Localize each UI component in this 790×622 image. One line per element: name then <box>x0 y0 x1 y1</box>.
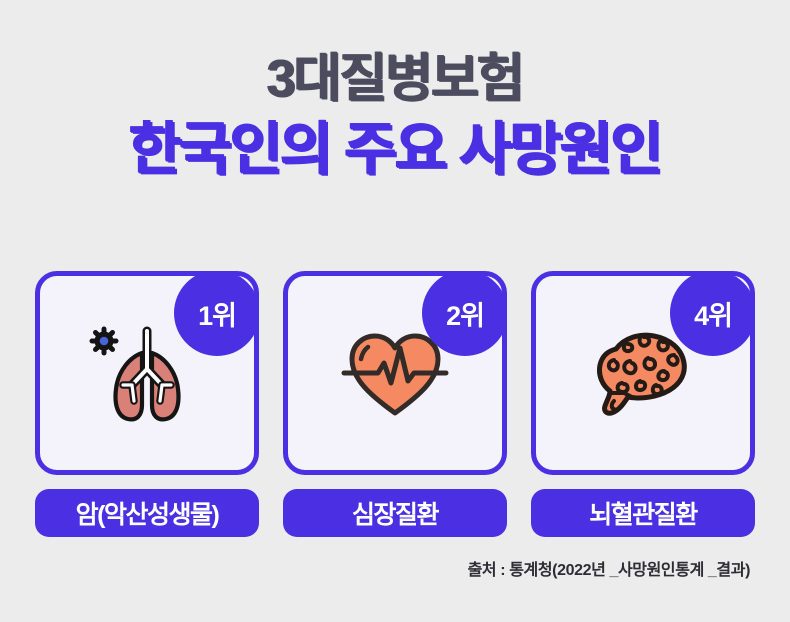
cards-row: 1위 <box>35 271 755 537</box>
card-rank-1[interactable]: 1위 <box>35 271 259 537</box>
infographic-root: 3대질병보험 한국인의 주요 사망원인 1위 <box>0 0 790 622</box>
rank-badge: 1위 <box>174 271 259 356</box>
page-title: 3대질병보험 <box>0 52 790 106</box>
card-box[interactable]: 4위 <box>531 271 755 475</box>
rank-badge: 4위 <box>670 271 755 356</box>
rank-badge: 2위 <box>422 271 507 356</box>
source-note: 출처 : 통계청(2022년 _사망원인통계 _결과) <box>468 556 750 580</box>
card-rank-4[interactable]: 4위 <box>531 271 755 537</box>
heading-block: 3대질병보험 한국인의 주요 사망원인 <box>0 52 790 180</box>
page-subtitle: 한국인의 주요 사망원인 <box>0 120 790 180</box>
card-rank-2[interactable]: 2위 심장질환 <box>283 271 507 537</box>
card-label[interactable]: 심장질환 <box>283 489 507 537</box>
card-label[interactable]: 암(악산성생물) <box>35 489 259 537</box>
card-label[interactable]: 뇌혈관질환 <box>531 489 755 537</box>
card-box[interactable]: 1위 <box>35 271 259 475</box>
card-box[interactable]: 2위 <box>283 271 507 475</box>
virus-glyph <box>92 329 116 353</box>
